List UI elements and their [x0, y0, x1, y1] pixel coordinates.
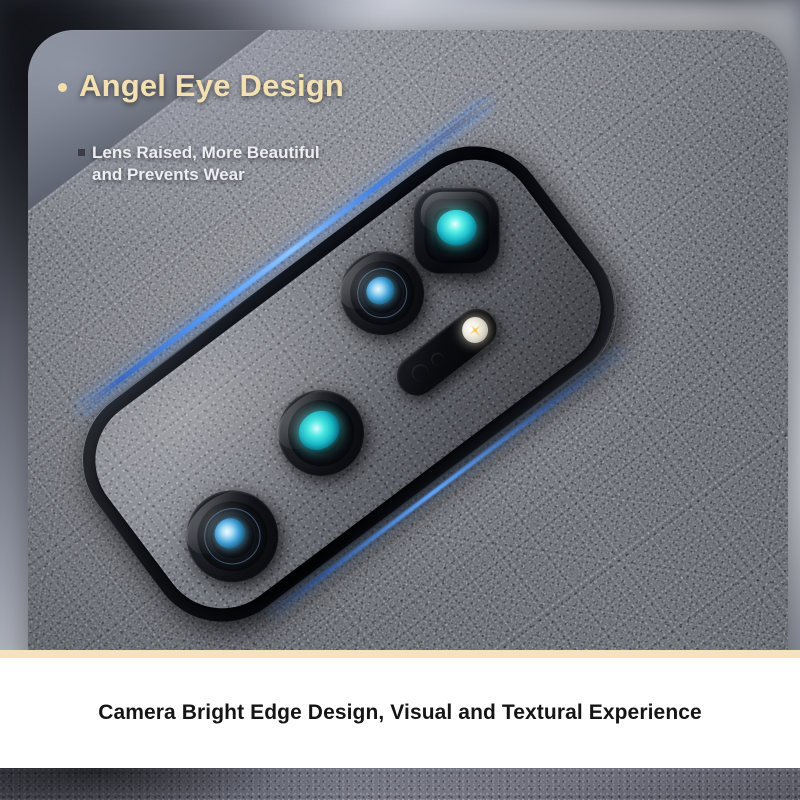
subheading-text: Lens Raised, More Beautiful and Prevents…	[92, 142, 320, 186]
subheading: Lens Raised, More Beautiful and Prevents…	[78, 142, 320, 186]
product-photo: Angel Eye Design Lens Raised, More Beaut…	[0, 0, 800, 650]
caption-band: Camera Bright Edge Design, Visual and Te…	[0, 658, 800, 768]
product-banner: Angel Eye Design Lens Raised, More Beaut…	[0, 0, 800, 800]
cream-divider	[0, 650, 800, 658]
caption-text: Camera Bright Edge Design, Visual and Te…	[98, 701, 702, 725]
ultrawide-lens-glow	[290, 402, 347, 458]
flash-led-sparkle-icon	[464, 319, 486, 341]
square-marker-icon	[78, 149, 85, 156]
flash-led	[457, 312, 493, 348]
bullet-dot-icon	[58, 83, 67, 92]
sensor-dot-small	[429, 350, 447, 368]
headline: Angel Eye Design	[58, 68, 344, 104]
bottom-strip-shading	[0, 768, 800, 800]
bottom-photo-strip	[0, 768, 800, 800]
sensor-dot-large	[408, 361, 432, 385]
headline-text: Angel Eye Design	[79, 68, 344, 104]
periscope-lens-sheen	[421, 192, 493, 235]
periscope-lens	[414, 188, 500, 274]
